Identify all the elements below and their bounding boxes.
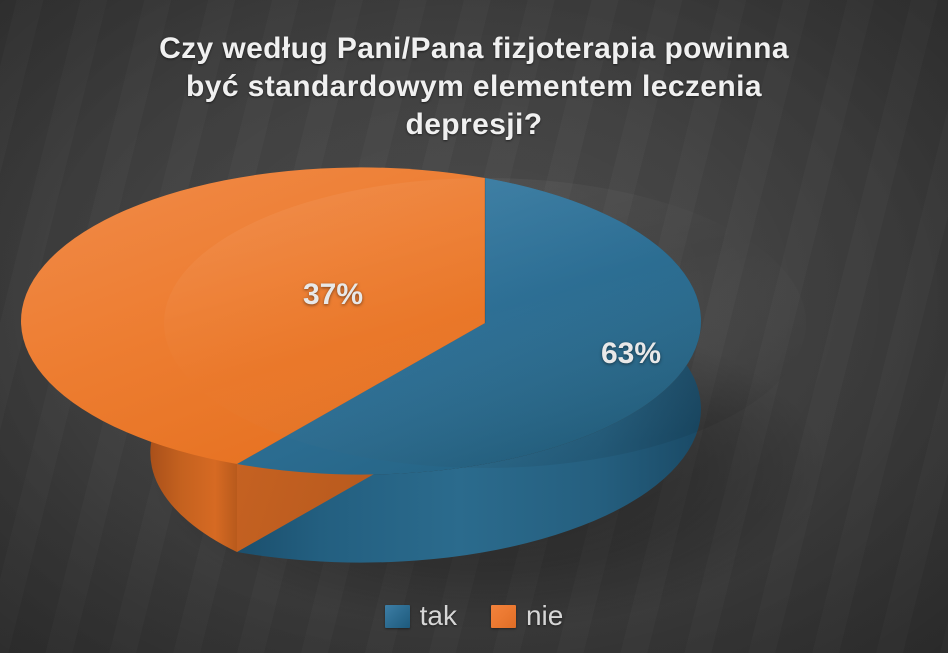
legend-item-tak[interactable]: tak [385,602,457,630]
slice-label-tak: 63% [601,337,661,371]
legend-swatch-tak-icon [385,605,410,628]
legend-swatch-nie-icon [491,605,516,628]
legend-item-nie[interactable]: nie [491,602,563,630]
chart-legend: tak nie [0,602,948,630]
chart-canvas: Czy według Pani/Pana fizjoterapia powinn… [0,0,948,653]
legend-label-nie: nie [526,602,563,630]
slice-label-nie: 37% [303,278,363,312]
pie-chart-graphic: 37% 63% [0,0,948,653]
pie-svg [0,0,948,653]
legend-label-tak: tak [420,602,457,630]
